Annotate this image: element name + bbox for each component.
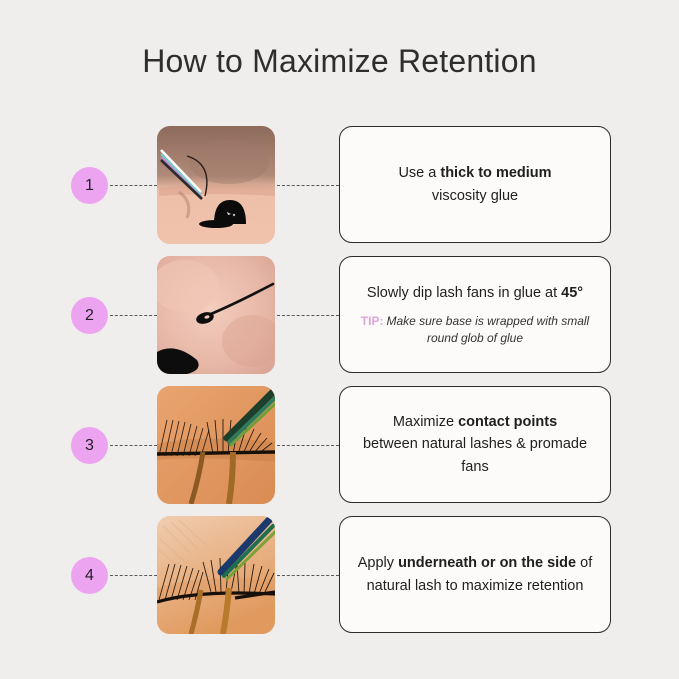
step-text: Apply underneath or on the side of natur… <box>356 552 594 596</box>
step-photo <box>157 516 275 634</box>
step-row: 1 <box>0 126 679 244</box>
step-row: 4 <box>0 516 679 634</box>
step-text: Slowly dip lash fans in glue at 45° <box>367 282 583 304</box>
step-row: 3 <box>0 386 679 504</box>
page-title: How to Maximize Retention <box>0 43 679 80</box>
contact-points-lashes-image <box>157 386 275 504</box>
step-text-emphasis: thick to medium <box>440 165 551 181</box>
step-text-before: Apply <box>358 555 398 571</box>
step-text: Maximize contact points between natural … <box>356 411 594 477</box>
step-text-before: Maximize <box>393 414 458 430</box>
step-text-before: Use a <box>398 165 440 181</box>
step-text: Use a thick to medium viscosity glue <box>398 162 551 206</box>
connector-photo-to-card <box>277 315 339 316</box>
step-text-card: Slowly dip lash fans in glue at 45° TIP:… <box>339 256 611 373</box>
step-row: 2 <box>0 256 679 374</box>
step-text-line2: viscosity glue <box>432 188 518 204</box>
step-tip: TIP:Make sure base is wrapped with small… <box>356 313 594 348</box>
step-text-before: Slowly dip lash fans in glue at <box>367 285 561 301</box>
lash-fan-glue-glob-image <box>157 256 275 374</box>
step-text-card: Apply underneath or on the side of natur… <box>339 516 611 633</box>
step-number-badge: 1 <box>71 167 108 204</box>
step-photo <box>157 256 275 374</box>
step-text-card: Use a thick to medium viscosity glue <box>339 126 611 243</box>
step-number-label: 3 <box>85 437 94 455</box>
tweezers-glue-drop-image <box>157 126 275 244</box>
connector-badge-to-photo <box>110 185 157 186</box>
step-text-emphasis: contact points <box>458 414 557 430</box>
step-number-label: 2 <box>85 307 94 325</box>
connector-photo-to-card <box>277 185 339 186</box>
connector-photo-to-card <box>277 445 339 446</box>
connector-badge-to-photo <box>110 445 157 446</box>
connector-badge-to-photo <box>110 315 157 316</box>
step-photo <box>157 126 275 244</box>
step-text-card: Maximize contact points between natural … <box>339 386 611 503</box>
step-number-badge: 3 <box>71 427 108 464</box>
step-text-emphasis: 45° <box>561 285 583 301</box>
connector-photo-to-card <box>277 575 339 576</box>
step-photo <box>157 386 275 504</box>
tip-text: Make sure base is wrapped with small rou… <box>386 314 589 345</box>
step-text-line2: between natural lashes & promade fans <box>363 436 587 474</box>
step-number-label: 1 <box>85 177 94 195</box>
step-number-label: 4 <box>85 567 94 585</box>
step-text-emphasis: underneath or on the side <box>398 555 576 571</box>
infographic-root: How to Maximize Retention 1 <box>0 0 679 679</box>
apply-underneath-lash-image <box>157 516 275 634</box>
step-number-badge: 4 <box>71 557 108 594</box>
tip-label: TIP: <box>361 314 384 328</box>
connector-badge-to-photo <box>110 575 157 576</box>
step-number-badge: 2 <box>71 297 108 334</box>
